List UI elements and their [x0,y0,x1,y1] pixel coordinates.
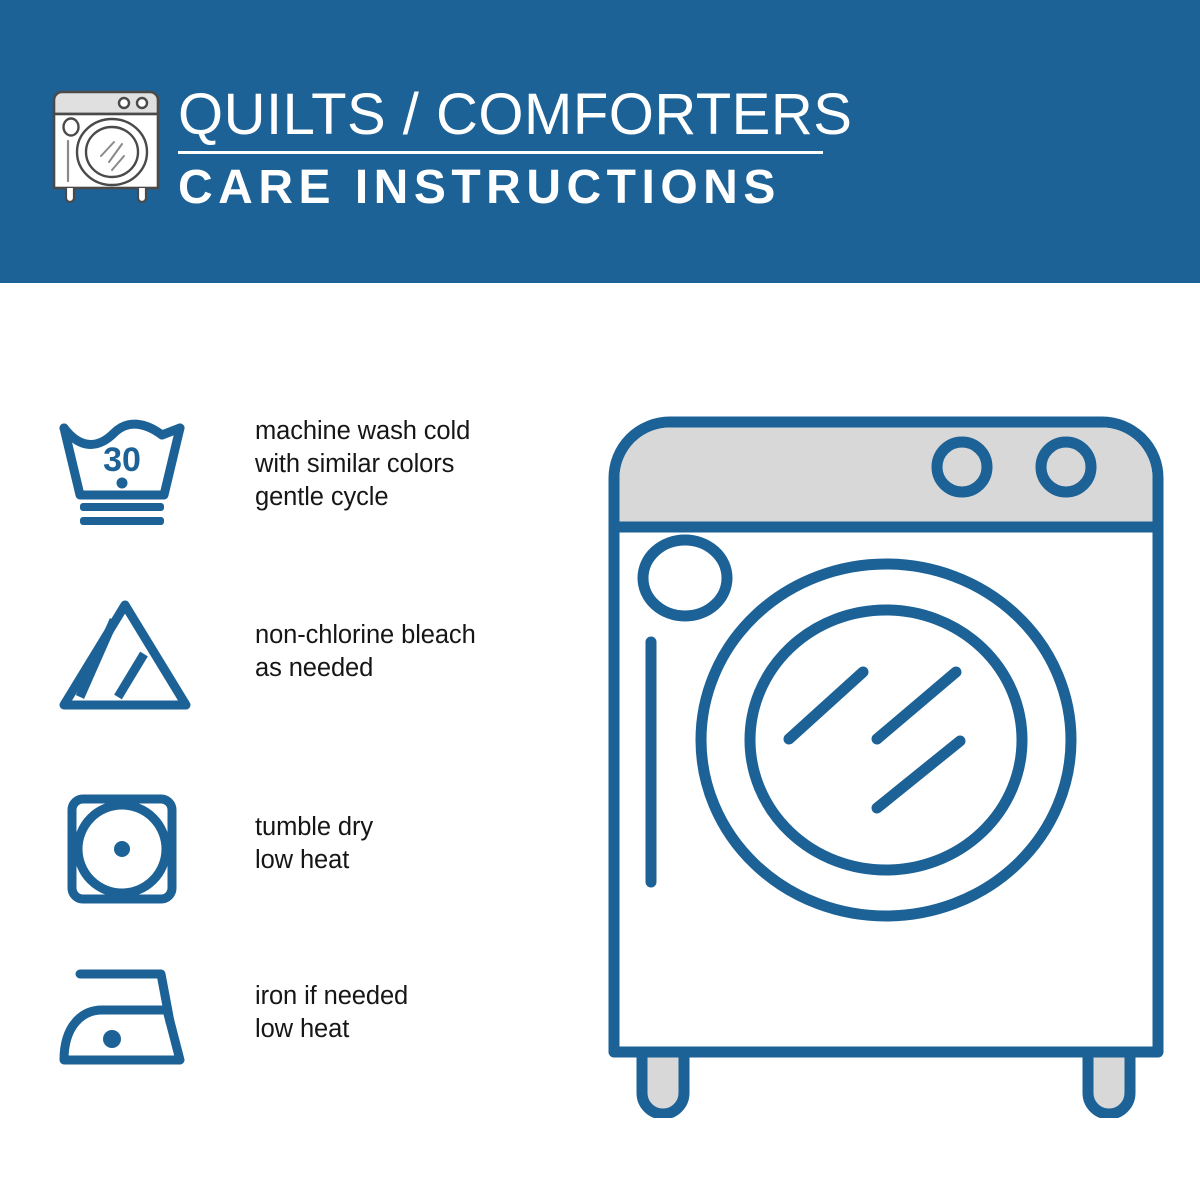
washing-machine-logo-icon [52,82,160,207]
care-row-tumble-dry: tumble dry low heat [58,789,373,909]
care-row-machine-wash: 30 machine wash cold with similar colors… [58,415,470,535]
tumble-dry-low-icon [58,789,193,909]
header-banner: QUILTS / COMFORTERS CARE INSTRUCTIONS [0,0,1200,283]
care-row-label: tumble dry low heat [255,811,373,877]
wash-temperature-label: 30 [103,441,141,479]
care-row-iron: iron if needed low heat [58,960,408,1080]
care-row-label: non-chlorine bleach as needed [255,619,476,685]
care-row-label: iron if needed low heat [255,980,408,1046]
wash-tub-30-gentle-icon: 30 [58,415,193,535]
iron-low-heat-icon [58,960,193,1080]
header-divider [178,151,823,154]
care-row-bleach: non-chlorine bleach as needed [58,597,476,717]
control-knob-left [937,442,987,492]
washing-machine-illustration [596,404,1176,1118]
page-subtitle: CARE INSTRUCTIONS [178,162,852,214]
detergent-dial [643,540,727,616]
care-row-label: machine wash cold with similar colors ge… [255,415,470,514]
page-title: QUILTS / COMFORTERS [178,84,852,146]
machine-leg-left [642,1052,684,1114]
machine-leg-right [1088,1052,1130,1114]
control-knob-right [1041,442,1091,492]
triangle-stripes-bleach-icon [58,597,193,717]
header-title-group: QUILTS / COMFORTERS CARE INSTRUCTIONS [178,84,852,214]
header-content: QUILTS / COMFORTERS CARE INSTRUCTIONS [52,82,852,214]
